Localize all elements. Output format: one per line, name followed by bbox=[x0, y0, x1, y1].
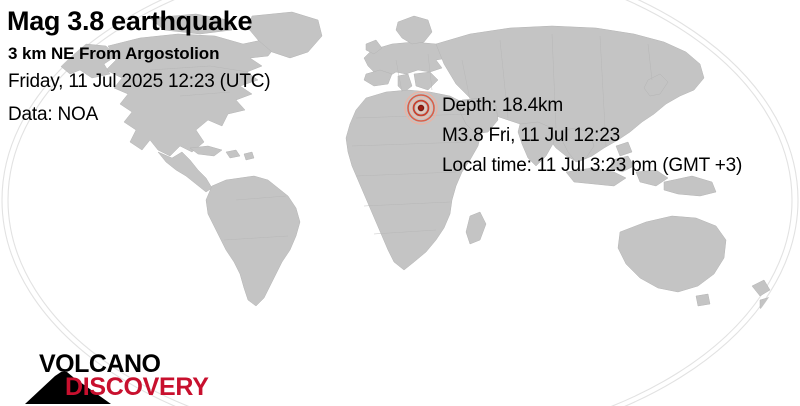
magnitude-time-label: M3.8 Fri, 11 Jul 12:23 bbox=[442, 126, 620, 145]
quake-datetime-label: Friday, 11 Jul 2025 12:23 (UTC) bbox=[8, 72, 270, 91]
land-tasmania bbox=[696, 294, 710, 306]
depth-label: Depth: 18.4km bbox=[442, 96, 563, 115]
data-source-label: Data: NOA bbox=[8, 105, 98, 124]
epicenter-marker[interactable] bbox=[404, 91, 438, 125]
volcanodiscovery-logo[interactable]: VOLCANO DISCOVERY bbox=[25, 352, 225, 404]
page-title: Mag 3.8 earthquake bbox=[7, 8, 252, 35]
concentric-rings-icon bbox=[404, 91, 438, 125]
earthquake-map-image: Mag 3.8 earthquake 3 km NE From Argostol… bbox=[0, 0, 800, 406]
logo-word-discovery: DISCOVERY bbox=[65, 375, 209, 400]
quake-location-label: 3 km NE From Argostolion bbox=[8, 45, 219, 62]
local-time-label: Local time: 11 Jul 3:23 pm (GMT +3) bbox=[442, 156, 742, 175]
